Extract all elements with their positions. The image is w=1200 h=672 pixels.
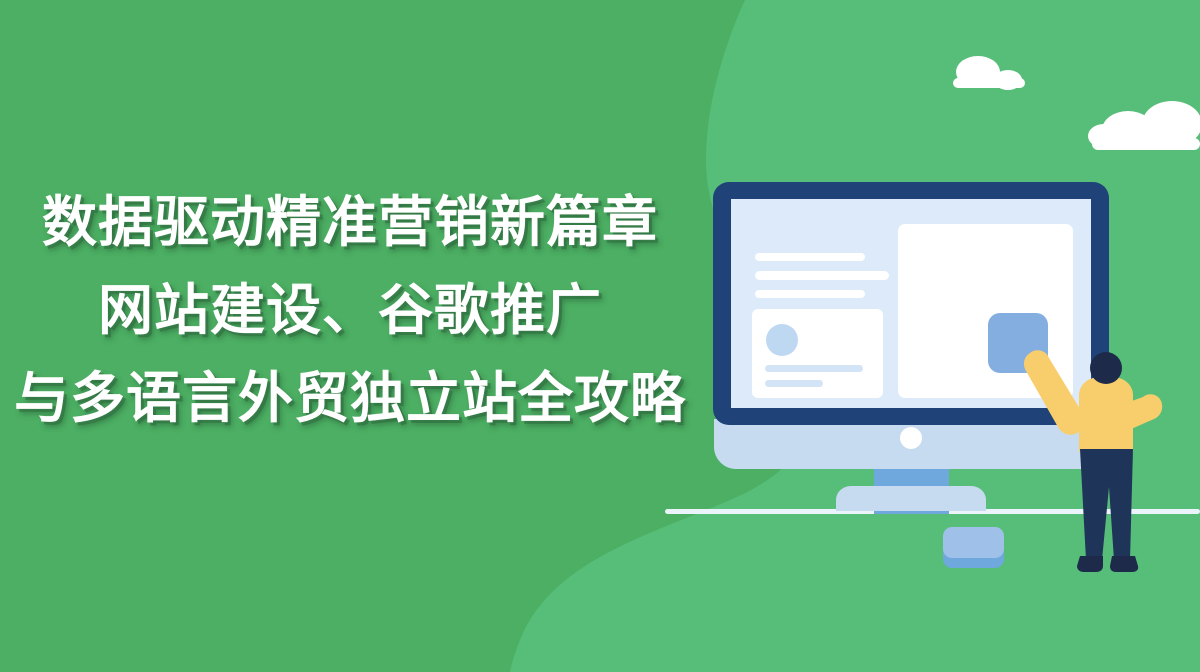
cloud-large-right-icon bbox=[1088, 101, 1200, 150]
person-shoe-left bbox=[1077, 556, 1103, 572]
person-pants bbox=[1080, 449, 1133, 560]
person-head bbox=[1090, 352, 1122, 384]
promo-banner: 数据驱动精准营销新篇章 网站建设、谷歌推广 与多语言外贸独立站全攻略 bbox=[0, 0, 1200, 672]
cloud-small-top-icon bbox=[953, 56, 1025, 90]
monitor-stand-base bbox=[836, 486, 986, 511]
desk-device bbox=[943, 527, 1004, 568]
monitor-power-dot bbox=[900, 427, 922, 449]
person-shirt bbox=[1079, 377, 1133, 452]
illustration-desktop-scene bbox=[0, 0, 1200, 672]
person-shoe-right bbox=[1110, 556, 1138, 572]
screen-avatar bbox=[766, 324, 798, 356]
